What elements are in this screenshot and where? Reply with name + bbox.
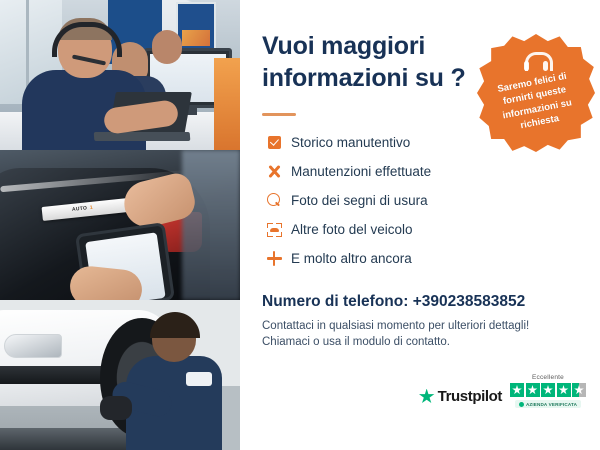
trustpilot-wordmark: Trustpilot [438, 388, 502, 405]
verified-badge: AZIENDA VERIFICATA [515, 400, 581, 408]
trustpilot-widget[interactable]: Trustpilot Eccellente AZIENDA VERIFICATA [419, 374, 586, 408]
star-icon [557, 383, 571, 397]
contact-text-line-1: Contattaci in qualsiasi momento per ulte… [262, 320, 529, 332]
title-divider [262, 113, 296, 116]
page-title: Vuoi maggiori informazioni su ? [262, 30, 482, 94]
scan-car-icon [262, 223, 286, 237]
plus-icon [262, 251, 286, 266]
headset-earpiece-left [524, 61, 529, 71]
rating-label: Eccellente [532, 374, 564, 381]
feature-item-altre-foto: Altre foto del veicolo [262, 215, 562, 244]
rating-stars [510, 383, 586, 397]
feature-item-storico: Storico manutentivo [262, 128, 562, 157]
photo-strip: AUTO1 [0, 0, 240, 450]
orange-accent-decor [214, 58, 240, 150]
magnifier-icon [262, 193, 286, 208]
verified-check-icon [519, 402, 524, 407]
contact-text-line-2: Chiamaci o usa il modulo di contatto. [262, 336, 450, 348]
verified-label: AZIENDA VERIFICATA [526, 402, 577, 407]
feature-item-altro: E molto altro ancora [262, 244, 562, 273]
star-icon [526, 383, 540, 397]
feature-label: Manutenzioni effettuate [286, 164, 431, 179]
bumper-decor [0, 366, 110, 384]
mechanic-glove-decor [100, 396, 132, 420]
trustpilot-star-icon [419, 389, 435, 405]
mechanic-workshop-photo [0, 300, 240, 450]
feature-label: Altre foto del veicolo [286, 222, 413, 237]
checkbox-checked-icon [262, 136, 286, 149]
feature-item-manutenzioni: Manutenzioni effettuate [262, 157, 562, 186]
headset-band [525, 52, 553, 71]
background-blur-decor [182, 150, 240, 300]
vehicle-inspection-photo: AUTO1 [0, 150, 240, 300]
promo-banner: AUTO1 Vuoi maggiori informazioni su ? [0, 0, 600, 450]
phone-number[interactable]: Numero di telefono: +390238583852 [262, 293, 525, 311]
headset-earpiece-right [543, 61, 548, 71]
call-center-photo [0, 0, 240, 150]
feature-label: E molto altro ancora [286, 251, 412, 266]
poster-decor [176, 2, 216, 52]
headlight-decor [4, 334, 62, 358]
star-icon [541, 383, 555, 397]
content-panel: Vuoi maggiori informazioni su ? Saremo f… [240, 0, 600, 450]
feature-label: Storico manutentivo [286, 135, 410, 150]
crossed-wrenches-icon [262, 164, 286, 179]
feature-label: Foto dei segni di usura [286, 193, 428, 208]
star-icon [510, 383, 524, 397]
feature-item-foto-usura: Foto dei segni di usura [262, 186, 562, 215]
feature-list: Storico manutentivo Manutenzioni effettu… [262, 128, 562, 273]
headset-icon [525, 52, 547, 72]
star-icon-half [572, 383, 586, 397]
uniform-logo-decor [186, 372, 212, 386]
trustpilot-rating: Eccellente AZIENDA VERIFICATA [510, 374, 586, 408]
trustpilot-logo: Trustpilot [419, 388, 502, 408]
person-background-decor [152, 30, 182, 64]
